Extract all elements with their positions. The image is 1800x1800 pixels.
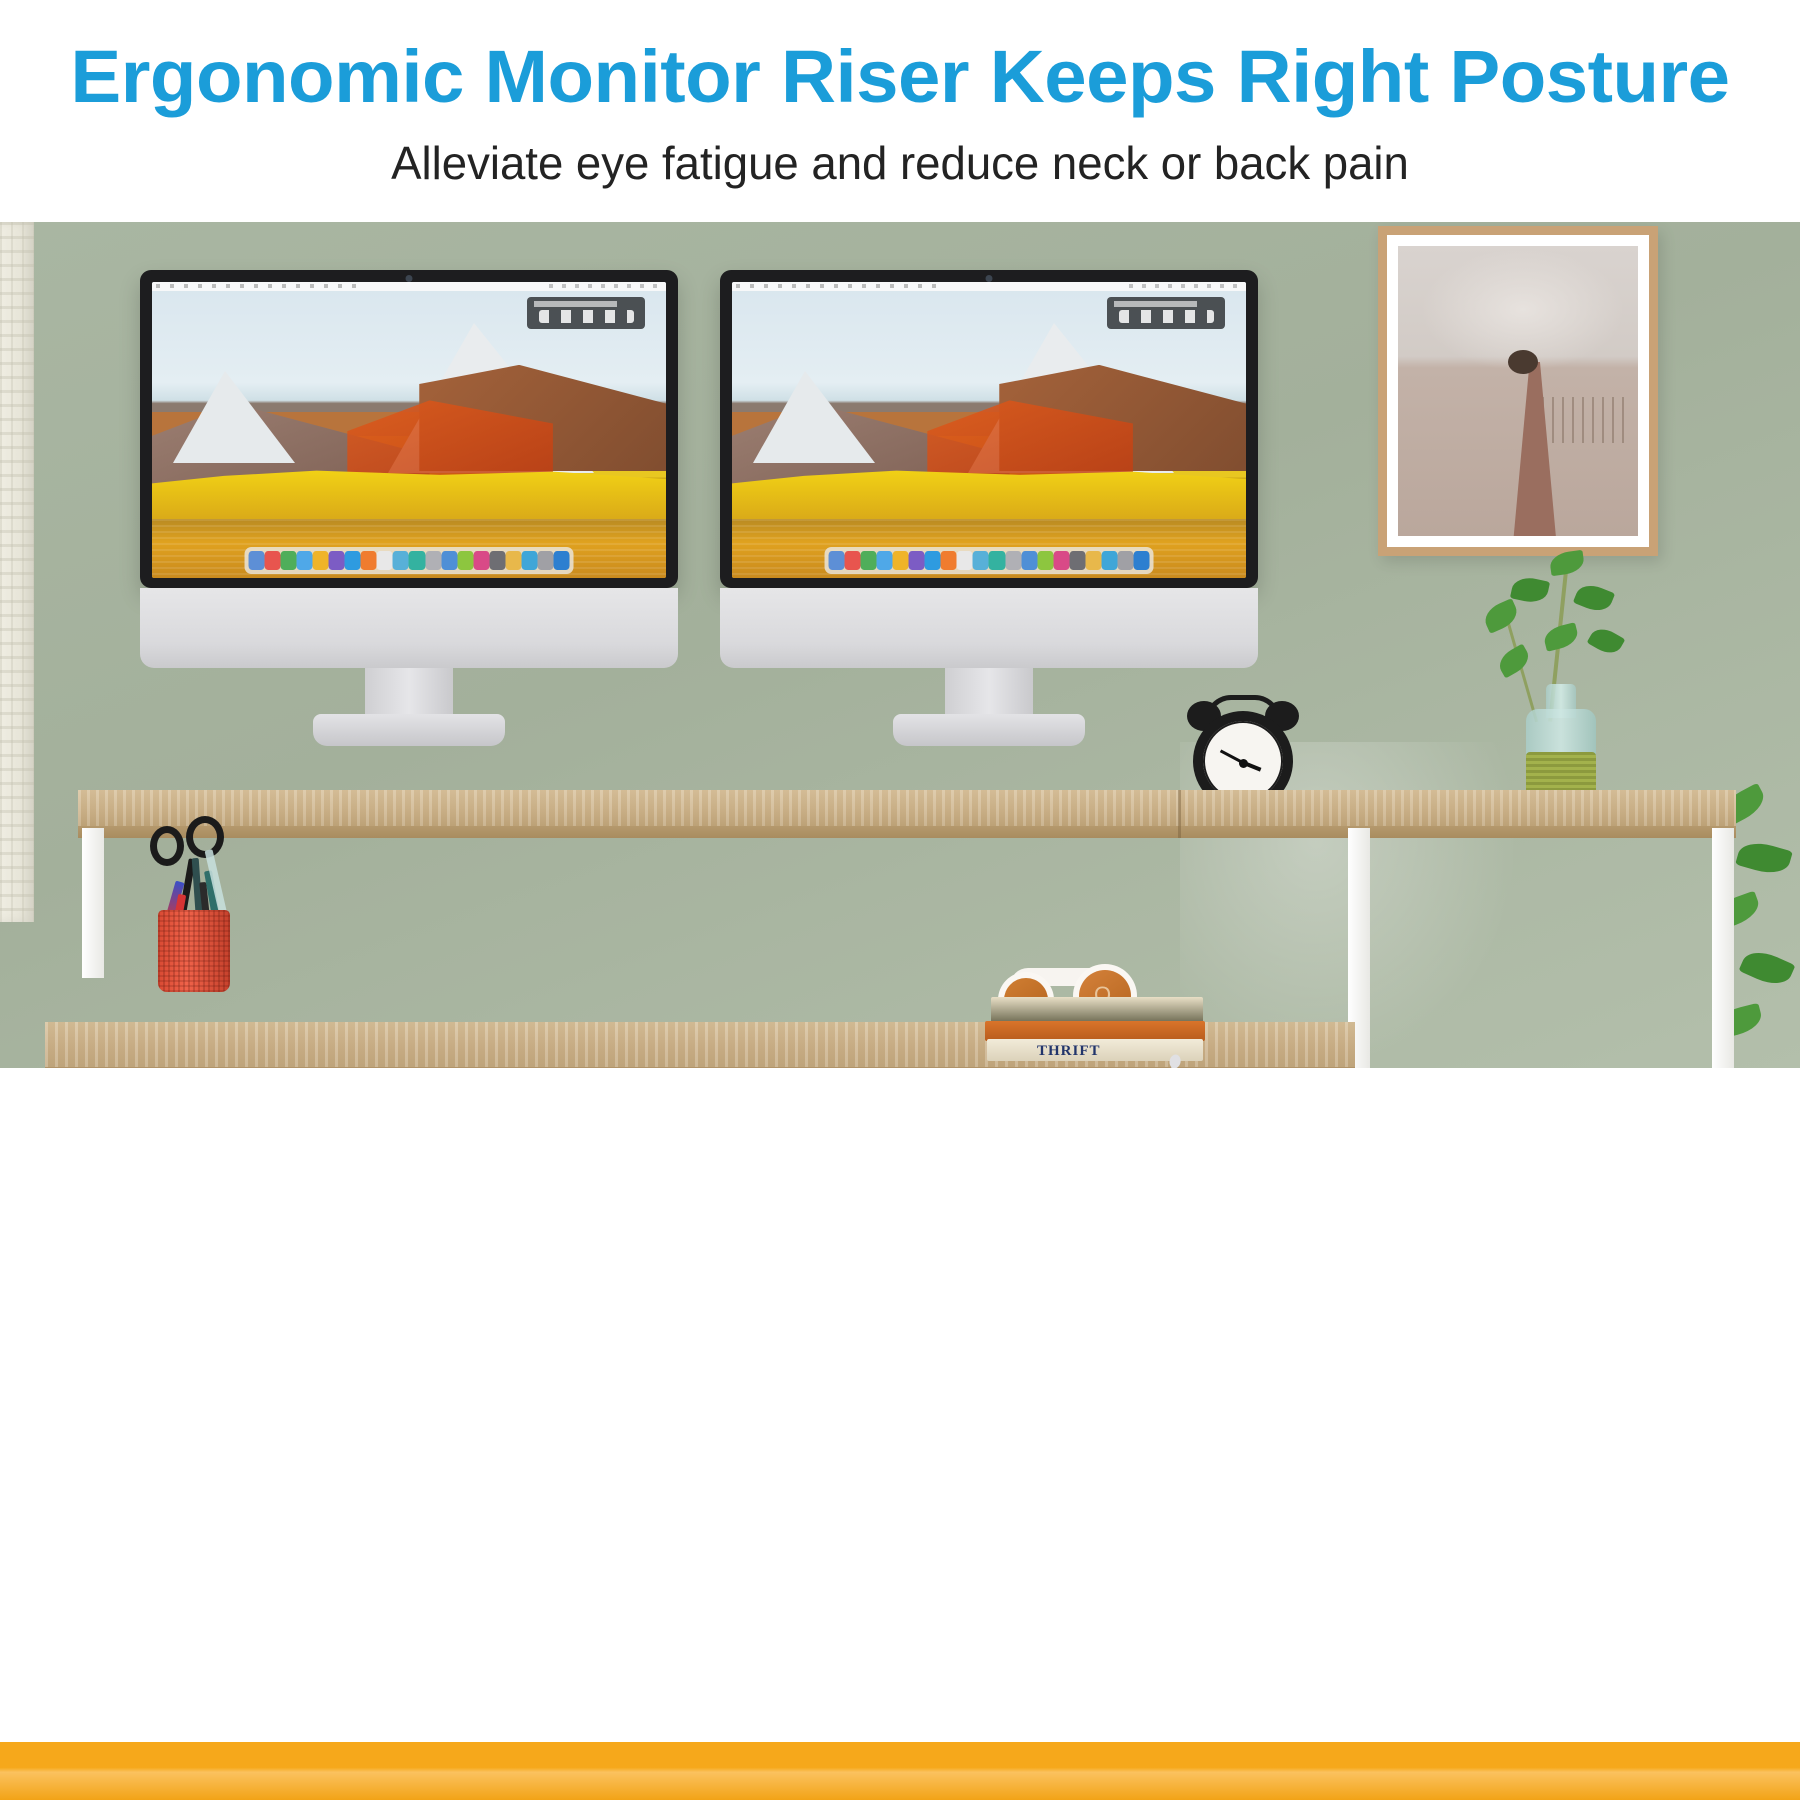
book-stack: THRIFT (985, 997, 1205, 1059)
imac-right-wallpaper (732, 282, 1246, 578)
desktop-widget[interactable] (1107, 297, 1225, 330)
dock-icon-7[interactable] (345, 551, 361, 570)
pencil-cup (158, 910, 230, 992)
menubar-status-items (549, 284, 662, 288)
scissors-ring (150, 826, 184, 866)
dock-icon-10[interactable] (393, 551, 409, 570)
dock-icon-15[interactable] (473, 551, 489, 570)
dock-icon-1[interactable] (829, 551, 845, 570)
page-subtitle: Alleviate eye fatigue and reduce neck or… (9, 140, 1791, 186)
imac-dock[interactable] (245, 547, 574, 574)
dock-icon-8[interactable] (361, 551, 377, 570)
imac-menubar[interactable] (732, 282, 1246, 291)
dock-icon-7[interactable] (925, 551, 941, 570)
dock-icon-18[interactable] (1101, 551, 1117, 570)
dock-icon-9[interactable] (957, 551, 973, 570)
imac-left-wallpaper (152, 282, 666, 578)
dock-icon-12[interactable] (1005, 551, 1021, 570)
wall-art-image (1398, 246, 1638, 536)
imac-menubar[interactable] (152, 282, 666, 291)
wallpaper-foliage (732, 468, 1246, 521)
wallpaper-peak-left (173, 371, 295, 463)
header-section: Ergonomic Monitor Riser Keeps Right Post… (0, 0, 1800, 222)
dock-icon-14[interactable] (1037, 551, 1053, 570)
dock-icon-11[interactable] (989, 551, 1005, 570)
dock-icon-19[interactable] (537, 551, 553, 570)
menubar-status-items (1129, 284, 1242, 288)
dock-icon-2[interactable] (265, 551, 281, 570)
dock-icon-14[interactable] (457, 551, 473, 570)
dock-icon-8[interactable] (941, 551, 957, 570)
imac-left-foot (313, 714, 505, 746)
riser-leg-far-right (1712, 828, 1734, 1068)
dock-icon-16[interactable] (1069, 551, 1085, 570)
dock-icon-5[interactable] (313, 551, 329, 570)
dock-icon-4[interactable] (877, 551, 893, 570)
dock-icon-18[interactable] (521, 551, 537, 570)
dock-icon-13[interactable] (441, 551, 457, 570)
imac-left-bezel (140, 270, 678, 588)
fern-leaf (1735, 837, 1793, 878)
dock-icon-1[interactable] (249, 551, 265, 570)
curtain (0, 222, 34, 922)
dock-icon-20[interactable] (1133, 551, 1149, 570)
riser-leg-left (82, 828, 104, 978)
imac-right-foot (893, 714, 1085, 746)
posture-comparison (0, 1068, 1800, 1800)
desktop-widget[interactable] (527, 297, 645, 330)
dock-icon-11[interactable] (409, 551, 425, 570)
imac-camera (406, 275, 413, 282)
imac-right-chin (720, 588, 1258, 668)
dock-icon-15[interactable] (1053, 551, 1069, 570)
imac-left-chin (140, 588, 678, 668)
wallpaper-peak-left (753, 371, 875, 463)
fern-leaf (1738, 945, 1795, 991)
dock-icon-3[interactable] (861, 551, 877, 570)
widget-equalizer (539, 310, 634, 323)
riser-shelf-top (78, 790, 1736, 830)
imac-dock[interactable] (825, 547, 1154, 574)
widget-title (1114, 301, 1197, 306)
floor-bar (0, 1742, 1800, 1800)
dock-icon-17[interactable] (1085, 551, 1101, 570)
imac-camera (986, 275, 993, 282)
dock-icon-9[interactable] (377, 551, 393, 570)
dock-icon-13[interactable] (1021, 551, 1037, 570)
book-middle (985, 1021, 1205, 1041)
dock-icon-16[interactable] (489, 551, 505, 570)
wall-art-frame (1378, 226, 1658, 556)
book-top (991, 997, 1203, 1023)
dock-icon-19[interactable] (1117, 551, 1133, 570)
clock-pin (1239, 759, 1248, 768)
page-title: Ergonomic Monitor Riser Keeps Right Post… (0, 40, 1800, 114)
art-road-detail (1513, 362, 1556, 536)
wall-art-mat (1387, 235, 1649, 547)
riser-seam (1178, 790, 1181, 838)
dock-icon-17[interactable] (505, 551, 521, 570)
widget-equalizer (1119, 310, 1214, 323)
dock-icon-2[interactable] (845, 551, 861, 570)
dock-icon-5[interactable] (893, 551, 909, 570)
menubar-items (156, 284, 362, 288)
dock-icon-6[interactable] (329, 551, 345, 570)
book-title: THRIFT (1037, 1043, 1101, 1060)
dock-icon-10[interactable] (973, 551, 989, 570)
dock-icon-12[interactable] (425, 551, 441, 570)
dock-icon-4[interactable] (297, 551, 313, 570)
imac-right-bezel (720, 270, 1258, 588)
menubar-items (736, 284, 942, 288)
lifestyle-photo: Q THRIFT EPSON (0, 222, 1800, 1068)
wallpaper-foliage (152, 468, 666, 521)
dock-icon-20[interactable] (553, 551, 569, 570)
dock-icon-3[interactable] (281, 551, 297, 570)
product-marketing-image: Ergonomic Monitor Riser Keeps Right Post… (0, 0, 1800, 1800)
riser-shelf-edge (78, 826, 1736, 838)
dock-icon-6[interactable] (909, 551, 925, 570)
widget-title (534, 301, 617, 306)
